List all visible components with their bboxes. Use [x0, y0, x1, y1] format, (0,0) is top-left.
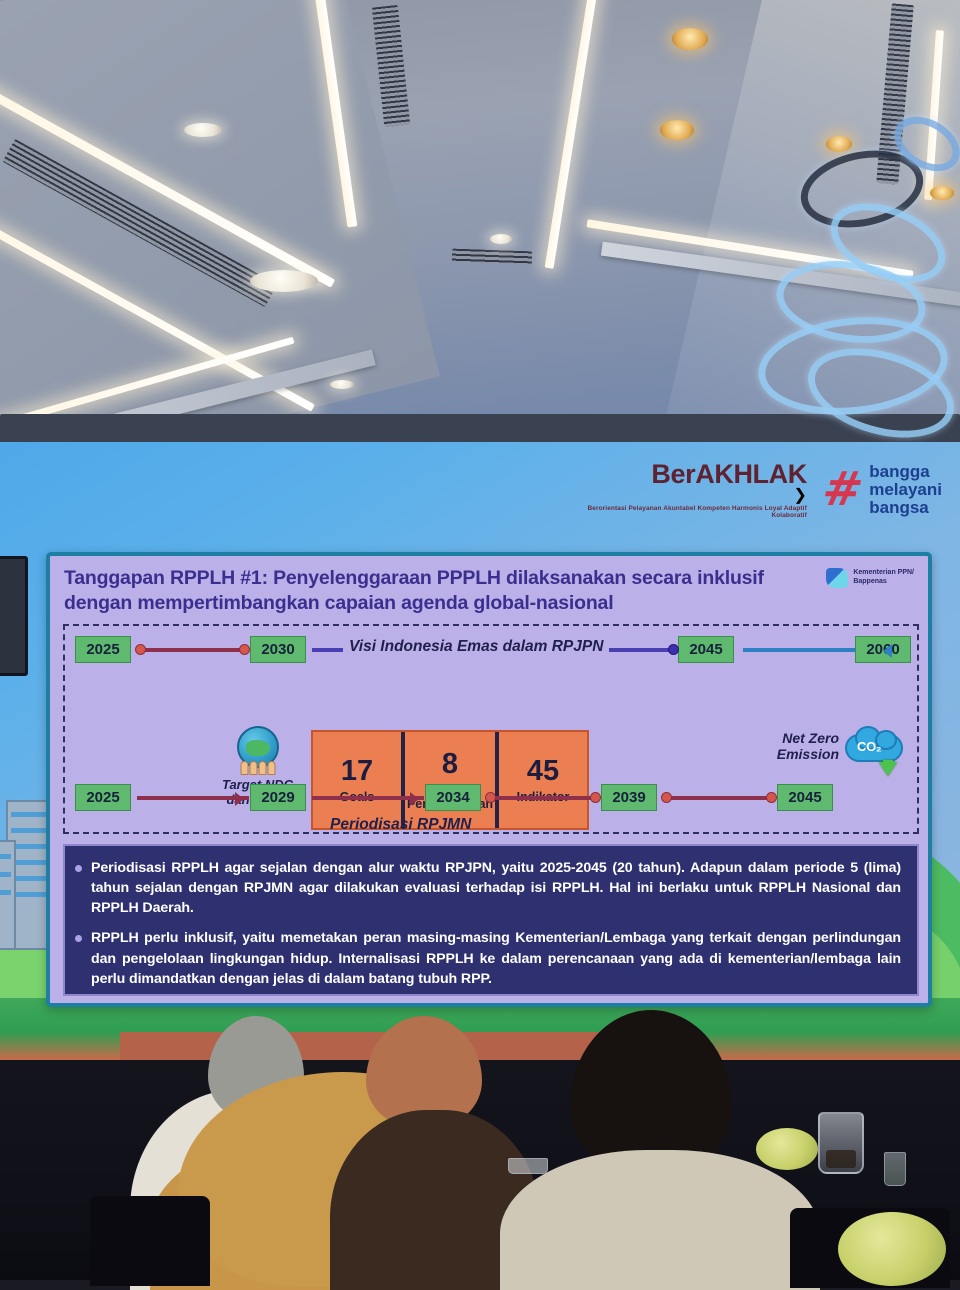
timeline-top-year-2045: 2045 [678, 636, 734, 663]
chair-back-1 [90, 1196, 210, 1286]
conference-room-scene: BerAKHLAK ❯ Berorientasi Pelayanan Akunt… [0, 0, 960, 1280]
water-pitcher [818, 1112, 864, 1174]
slide-content-card: Tanggapan RPPLH #1: Penyelenggaraan PPPL… [46, 552, 932, 1007]
downlight-6 [826, 136, 852, 152]
down-arrow-icon [879, 762, 897, 776]
list-item: Periodisasi RPPLH agar sejalan dengan al… [75, 858, 901, 918]
timeline-bottom-segment-1 [137, 796, 249, 800]
berakhlak-tagline: Berorientasi Pelayanan Akuntabel Kompete… [572, 506, 807, 519]
co2-badge: CO₂ [857, 739, 881, 754]
bangga-wordmark: bangga melayani bangsa [869, 463, 942, 516]
timeline-top-dot-3 [668, 644, 679, 655]
stat-agenda-number: 8 [442, 750, 458, 779]
people-icon [240, 761, 275, 775]
timeline-bottom-dot-3 [661, 792, 672, 803]
bangga-line-2: melayani [869, 481, 942, 499]
stat-agenda: 8 Agenda Pembangunan [401, 732, 495, 828]
berakhlak-logo: BerAKHLAK ❯ Berorientasi Pelayanan Akunt… [572, 461, 807, 519]
bangga-line-1: bangga [869, 463, 942, 481]
hash-icon: # [820, 471, 866, 509]
timeline-bottom-year-2039: 2039 [601, 784, 657, 811]
person-4-body [500, 1150, 820, 1290]
berakhlak-swoosh-icon: ❯ [793, 487, 806, 504]
bappenas-label: Kementerian PPN/ Bappenas [853, 569, 914, 587]
bangga-melayani-bangsa-logo: # bangga melayani bangsa [823, 463, 942, 516]
air-vent-3 [452, 249, 532, 265]
timeline-bottom-caption: Periodisasi RPJMN [330, 816, 471, 834]
timeline-bottom-year-2045: 2045 [777, 784, 833, 811]
bappenas-line-2: Bappenas [853, 578, 914, 587]
timeline-bottom-segment-4 [665, 796, 773, 800]
timeline-top-dot-2 [239, 644, 250, 655]
timeline-bottom-year-2025: 2025 [75, 784, 131, 811]
bappenas-line-1: Kementerian PPN/ [853, 569, 914, 578]
flower-arrangement-1 [756, 1128, 818, 1170]
net-zero-line-2: Emission [777, 746, 839, 762]
timeline-bottom-segment-2 [312, 796, 424, 800]
air-vent-2 [372, 5, 410, 127]
projection-screen: BerAKHLAK ❯ Berorientasi Pelayanan Akunt… [0, 442, 960, 1060]
downlight-2 [250, 270, 318, 292]
illustration-building-2 [0, 840, 16, 950]
timeline-bottom-segment-3 [489, 796, 597, 800]
downlight-1 [184, 123, 222, 137]
downlight-3 [330, 380, 354, 389]
name-plate [508, 1158, 548, 1174]
timeline-bottom-dot-1 [485, 792, 496, 803]
timeline-bottom-arrow-2 [410, 792, 419, 806]
net-zero-label: Net Zero Emission [777, 730, 839, 762]
bullet-dot-icon [75, 935, 82, 942]
bappenas-logo: Kementerian PPN/ Bappenas [826, 568, 914, 588]
side-monitor [0, 556, 28, 676]
timeline-bottom-arrow-1 [235, 792, 244, 806]
bullet-text-2: RPPLH perlu inklusif, yaitu memetakan pe… [91, 928, 901, 988]
slide-header-logos: BerAKHLAK ❯ Berorientasi Pelayanan Akunt… [572, 450, 942, 530]
timeline-bottom-year-2034: 2034 [425, 784, 481, 811]
stat-indikator: 45 Indikator [495, 732, 587, 828]
timeline-bottom-year-2029: 2029 [250, 784, 306, 811]
drinking-glass [884, 1152, 906, 1186]
stats-group: 17 Goals 8 Agenda Pembangunan 45 Indikat… [311, 730, 589, 830]
timeline-top-segment-2025-2030 [137, 648, 247, 652]
stat-goals: 17 Goals [313, 732, 401, 828]
timeline-top-dot-1 [135, 644, 146, 655]
list-item: RPPLH perlu inklusif, yaitu memetakan pe… [75, 928, 901, 988]
bappenas-mark-icon [826, 568, 848, 588]
downlight-5 [660, 120, 694, 140]
timeline-diagram: 2025 2030 Visi Indonesia Emas dalam RPJP… [63, 624, 919, 834]
berakhlak-wordmark: BerAKHLAK [572, 461, 807, 488]
timeline-bottom-dot-4 [766, 792, 777, 803]
downlight-7 [930, 186, 954, 200]
stat-indikator-number: 45 [527, 757, 559, 786]
net-zero-emission: Net Zero Emission CO₂ [725, 726, 905, 766]
downlight-4 [672, 28, 708, 50]
timeline-top-arrow-2060 [883, 644, 892, 658]
timeline-top-year-2030: 2030 [250, 636, 306, 663]
timeline-top-year-2025: 2025 [75, 636, 131, 663]
co2-cloud-icon: CO₂ [845, 726, 905, 766]
bullets-box: Periodisasi RPPLH agar sejalan dengan al… [63, 844, 919, 996]
bullet-dot-icon [75, 865, 82, 872]
timeline-top-caption: Visi Indonesia Emas dalam RPJPN [343, 638, 609, 656]
page-title: Tanggapan RPPLH #1: Penyelenggaraan PPPL… [64, 566, 784, 616]
globe-people-icon [237, 726, 279, 768]
ceiling [0, 0, 960, 442]
bangga-line-3: bangsa [869, 499, 942, 517]
net-zero-line-1: Net Zero [777, 730, 839, 746]
timeline-bottom-dot-2 [590, 792, 601, 803]
flower-arrangement-2 [838, 1212, 946, 1286]
downlight-8 [490, 234, 512, 244]
stat-goals-number: 17 [341, 757, 373, 786]
ceiling-shadow-1 [0, 414, 960, 442]
bullet-text-1: Periodisasi RPPLH agar sejalan dengan al… [91, 858, 901, 918]
light-strip-5 [545, 0, 601, 269]
